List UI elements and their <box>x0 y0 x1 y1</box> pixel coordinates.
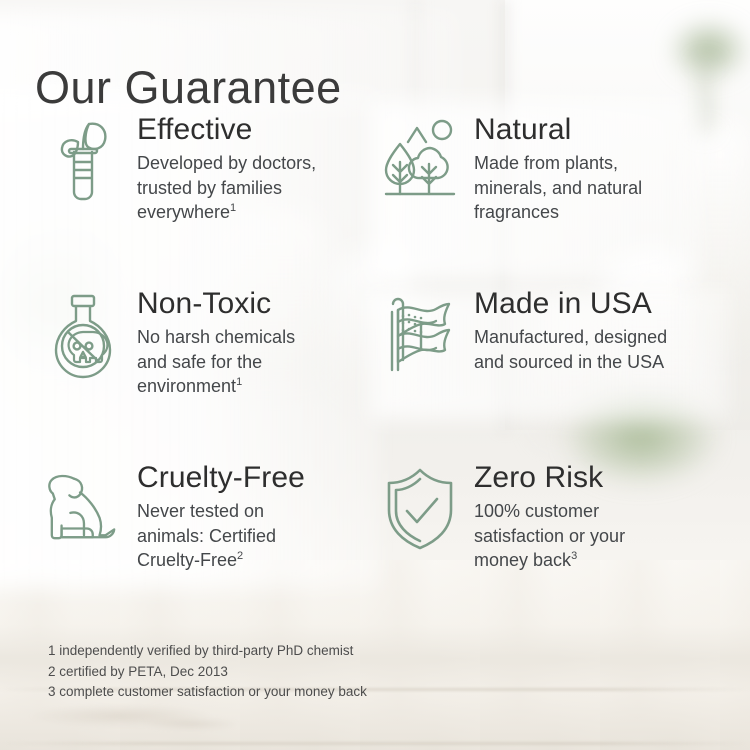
footnote-marker: 1 <box>236 376 242 388</box>
desc-line: fragrances <box>474 202 559 222</box>
desc-line: 100% customer <box>474 501 599 521</box>
feature-title: Natural <box>474 114 742 146</box>
desc-line: Made from plants, <box>474 153 618 173</box>
desc-line: satisfaction or your <box>474 526 625 546</box>
feature-description: Made from plants, minerals, and natural … <box>474 151 734 224</box>
features-row: Cruelty-Free Never tested on animals: Ce… <box>0 460 750 634</box>
feature-description: Developed by doctors, trusted by familie… <box>137 151 385 224</box>
feature-made-in-usa: Made in USA Manufactured, designed and s… <box>382 286 742 384</box>
feature-effective: Effective Developed by doctors, trusted … <box>45 112 385 224</box>
desc-line: money back <box>474 550 571 570</box>
features-row: Effective Developed by doctors, trusted … <box>0 112 750 286</box>
feature-description: Never tested on animals: Certified Cruel… <box>137 499 385 572</box>
trees-mountain-sun-icon <box>382 112 458 210</box>
desc-line: Developed by doctors, <box>137 153 316 173</box>
feature-description: No harsh chemicals and safe for the envi… <box>137 325 385 398</box>
feature-description: 100% customer satisfaction or your money… <box>474 499 734 572</box>
feature-zero-risk: Zero Risk 100% customer satisfaction or … <box>382 460 742 572</box>
desc-line: minerals, and natural <box>474 178 642 198</box>
footnotes: 1 independently verified by third-party … <box>48 641 367 703</box>
desc-line: animals: Certified <box>137 526 276 546</box>
feature-text: Zero Risk 100% customer satisfaction or … <box>458 460 742 572</box>
usa-flag-icon <box>382 286 458 384</box>
desc-line: and sourced in the USA <box>474 352 664 372</box>
desc-line: everywhere <box>137 202 230 222</box>
desc-line: Manufactured, designed <box>474 327 667 347</box>
guarantee-poster: Our Guarantee <box>0 0 750 750</box>
feature-title: Made in USA <box>474 288 742 320</box>
desc-line: Cruelty-Free <box>137 550 237 570</box>
page-title: Our Guarantee <box>35 64 342 111</box>
features-row: Non-Toxic No harsh chemicals and safe fo… <box>0 286 750 460</box>
feature-text: Cruelty-Free Never tested on animals: Ce… <box>121 460 385 572</box>
feature-title: Cruelty-Free <box>137 462 385 494</box>
feature-non-toxic: Non-Toxic No harsh chemicals and safe fo… <box>45 286 385 398</box>
desc-line: environment <box>137 376 236 396</box>
feature-title: Effective <box>137 114 385 146</box>
feature-description: Manufactured, designed and sourced in th… <box>474 325 734 374</box>
footnote-line: 2 certified by PETA, Dec 2013 <box>48 662 367 683</box>
feature-text: Effective Developed by doctors, trusted … <box>121 112 385 224</box>
poison-bottle-skull-crossed-out-icon <box>45 286 121 384</box>
desc-line: No harsh chemicals <box>137 327 295 347</box>
feature-title: Non-Toxic <box>137 288 385 320</box>
feature-text: Made in USA Manufactured, designed and s… <box>458 286 742 374</box>
footnote-line: 3 complete customer satisfaction or your… <box>48 682 367 703</box>
desc-line: Never tested on <box>137 501 264 521</box>
footnote-marker: 1 <box>230 202 236 214</box>
desc-line: and safe for the <box>137 352 262 372</box>
wood-plank-seam <box>0 742 750 745</box>
feature-cruelty-free: Cruelty-Free Never tested on animals: Ce… <box>45 460 385 572</box>
shield-check-icon <box>382 460 458 558</box>
feature-title: Zero Risk <box>474 462 742 494</box>
footnote-marker: 3 <box>571 550 577 562</box>
feature-text: Natural Made from plants, minerals, and … <box>458 112 742 224</box>
footnote-marker: 2 <box>237 550 243 562</box>
footnote-line: 1 independently verified by third-party … <box>48 641 367 662</box>
features-grid: Effective Developed by doctors, trusted … <box>0 112 750 634</box>
sitting-dog-icon <box>45 460 121 558</box>
feature-natural: Natural Made from plants, minerals, and … <box>382 112 742 224</box>
feature-text: Non-Toxic No harsh chemicals and safe fo… <box>121 286 385 398</box>
desc-line: trusted by families <box>137 178 282 198</box>
test-tube-leaf-icon <box>45 112 121 210</box>
